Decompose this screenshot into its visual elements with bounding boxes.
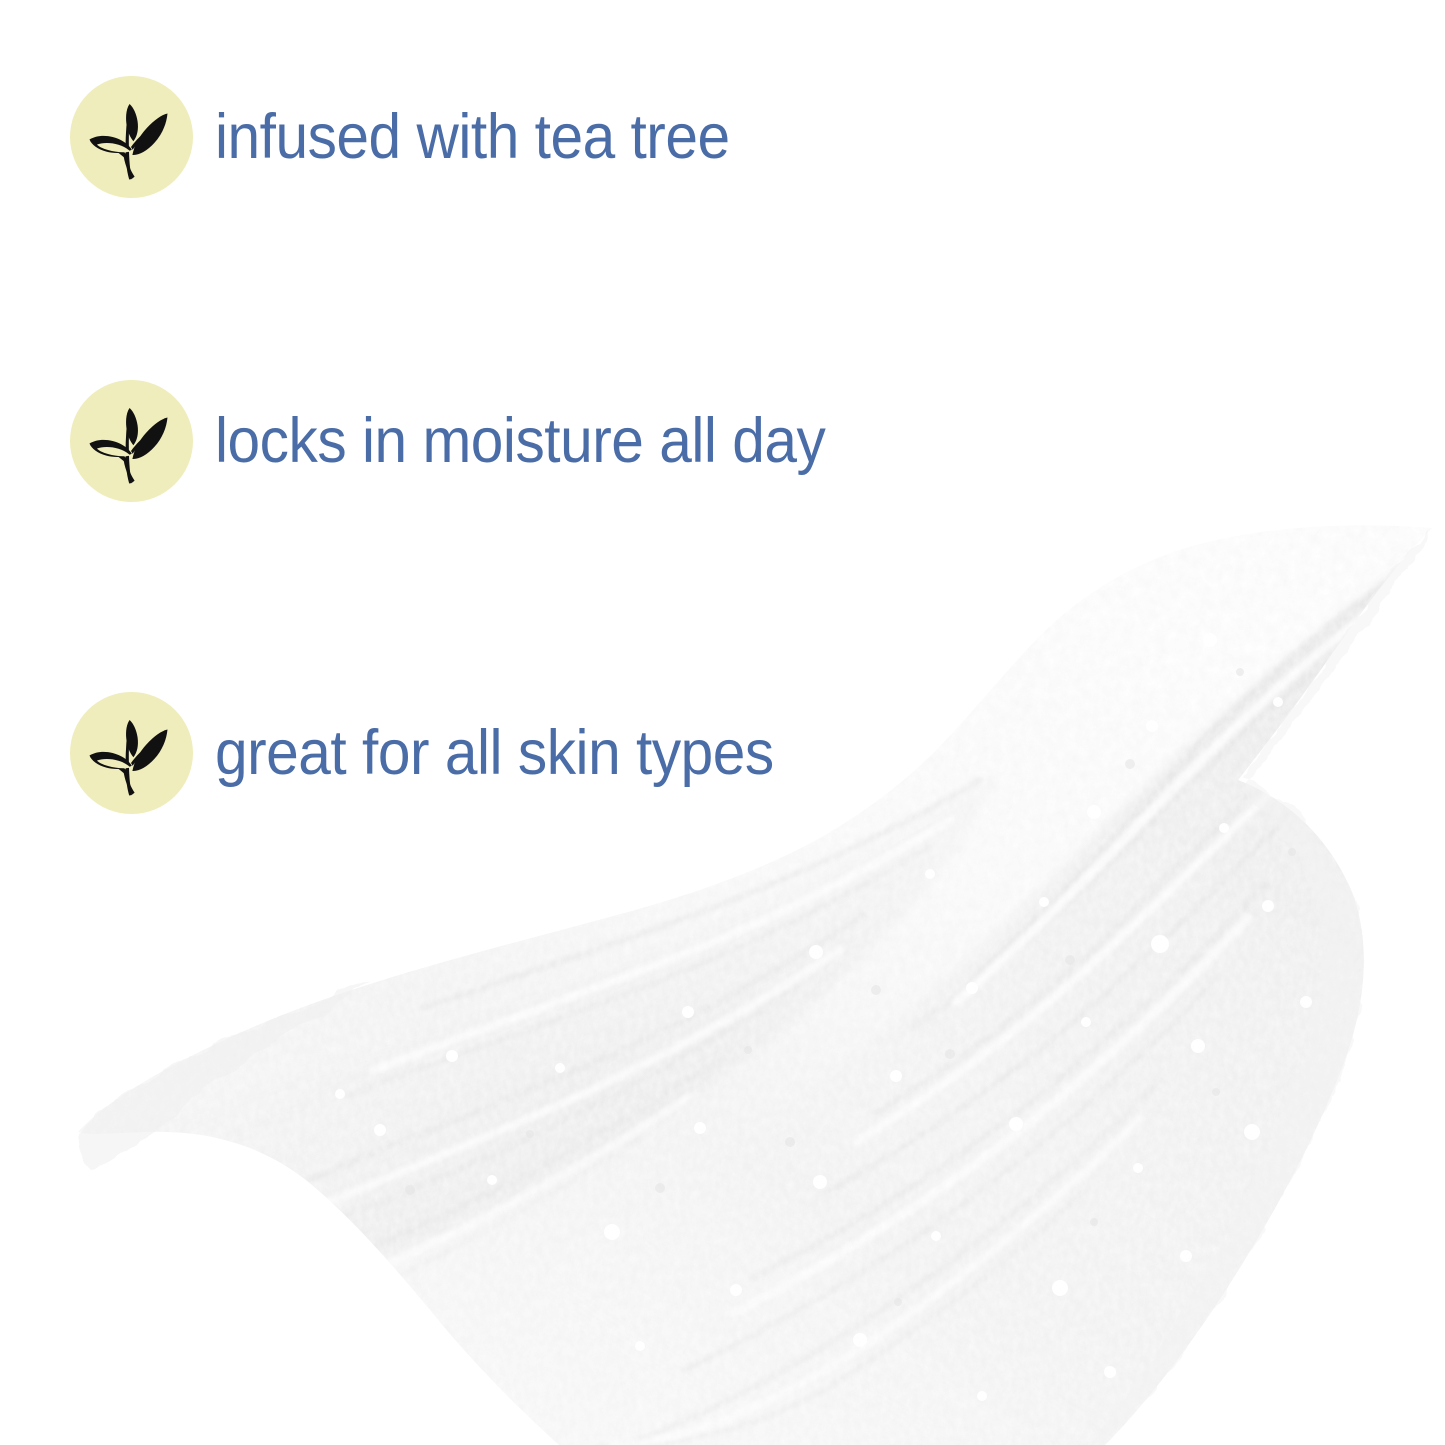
feature-row-great-for-all-skin-types: great for all skin types — [70, 692, 816, 814]
feature-row-locks-in-moisture-all-day: locks in moisture all day — [70, 380, 871, 502]
feature-label: infused with tea tree — [215, 106, 730, 169]
product-feature-graphic: infused with tea tree locks in moisture … — [0, 0, 1445, 1445]
feature-label: great for all skin types — [215, 722, 774, 785]
tea-leaf-icon — [70, 76, 193, 198]
cream-body — [0, 500, 1445, 1445]
feature-row-infused-with-tea-tree: infused with tea tree — [70, 76, 768, 198]
feature-label: locks in moisture all day — [215, 410, 825, 473]
tea-leaf-badge — [70, 692, 193, 814]
tea-leaf-icon — [70, 380, 193, 502]
tea-leaf-badge — [70, 76, 193, 198]
cream-edge-texture — [77, 528, 1432, 1445]
tea-leaf-icon — [70, 692, 193, 814]
tea-leaf-badge — [70, 380, 193, 502]
